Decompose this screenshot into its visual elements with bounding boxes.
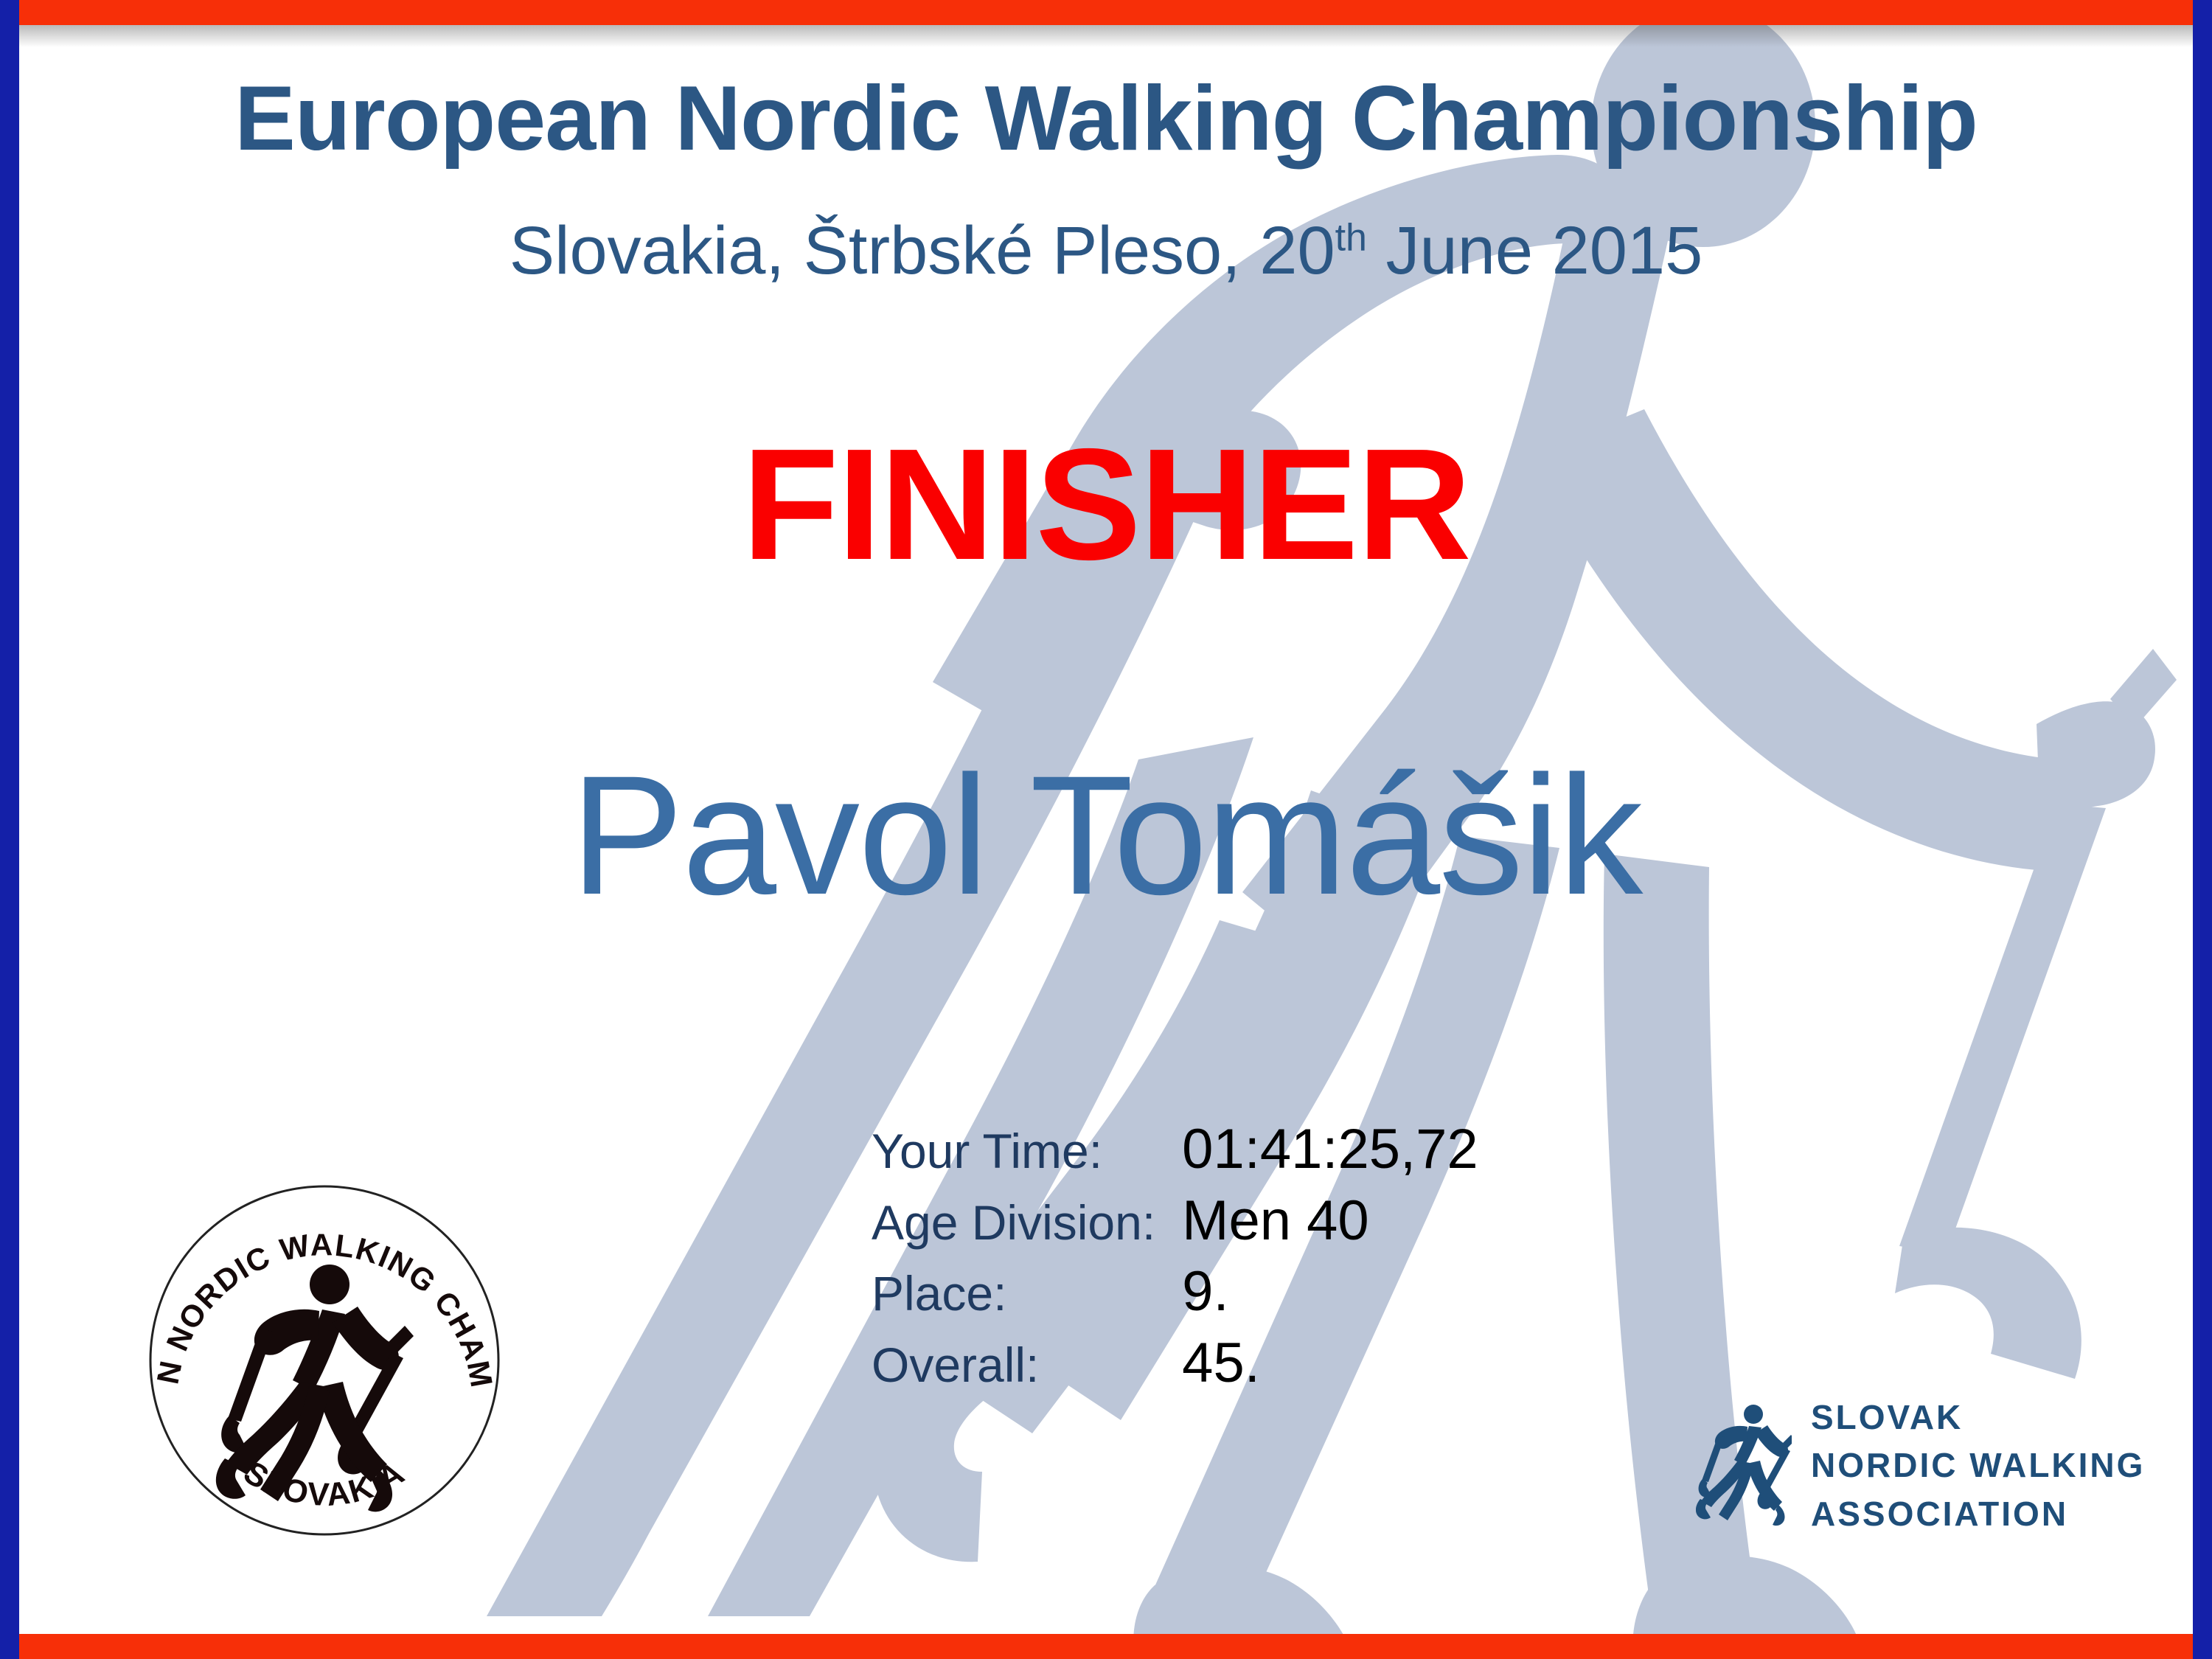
event-subtitle: Slovakia, Štrbské Pleso, 20th June 2015 [0,214,2212,288]
result-value-age-division: Men 40 [1182,1186,1478,1258]
results-block: Your Time: 01:41:25,72 Age Division: Men… [872,1115,1478,1400]
top-red-bar [19,0,2193,25]
association-line-2: NORDIC WALKING [1811,1441,2145,1489]
association-name: SLOVAK NORDIC WALKING ASSOCIATION [1811,1394,2145,1538]
result-label-age-division: Age Division: [872,1186,1182,1258]
walker-pictogram-blue [1696,1401,1792,1530]
result-value-overall: 45. [1182,1329,1478,1400]
association-logo: SLOVAK NORDIC WALKING ASSOCIATION [1696,1394,2145,1538]
athlete-name: Pavol Tomášik [0,737,2212,933]
award-label: FINISHER [0,413,2212,596]
event-date-rest: June 2015 [1367,213,1703,288]
result-label-overall: Overall: [872,1329,1182,1400]
left-border-rail [0,0,19,1659]
top-bar-shadow [19,25,2193,47]
event-location-date: Slovakia, Štrbské Pleso, 20 [509,213,1335,288]
table-row: Overall: 45. [872,1329,1478,1400]
right-border-rail [2193,0,2212,1659]
championship-circular-logo: EUROPEAN NORDIC WALKING CHAMPIONSHIP SLO… [129,1165,520,1556]
bottom-red-bar [19,1634,2193,1659]
association-line-1: SLOVAK [1811,1394,2145,1441]
table-row: Age Division: Men 40 [872,1186,1478,1258]
result-label-place: Place: [872,1257,1182,1329]
results-table: Your Time: 01:41:25,72 Age Division: Men… [872,1115,1478,1400]
table-row: Your Time: 01:41:25,72 [872,1115,1478,1186]
certificate-canvas: European Nordic Walking Championship Slo… [0,0,2212,1659]
event-title: European Nordic Walking Championship [0,71,2212,167]
date-ordinal-suffix: th [1335,216,1367,259]
result-value-your-time: 01:41:25,72 [1182,1115,1478,1186]
association-line-3: ASSOCIATION [1811,1490,2145,1538]
result-label-your-time: Your Time: [872,1115,1182,1186]
result-value-place: 9. [1182,1257,1478,1329]
table-row: Place: 9. [872,1257,1478,1329]
